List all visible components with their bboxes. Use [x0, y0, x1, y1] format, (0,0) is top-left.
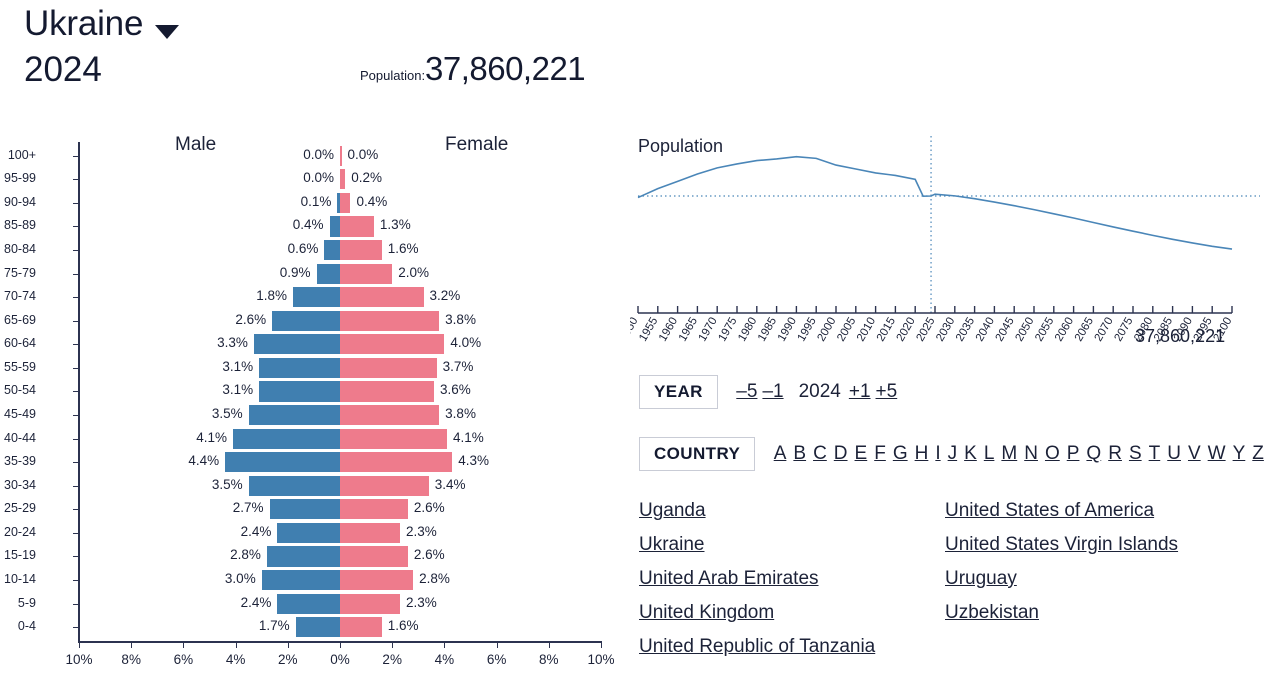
- alphabet-link-z[interactable]: Z: [1252, 443, 1264, 464]
- female-bar[interactable]: [340, 429, 447, 449]
- alphabet-link-g[interactable]: G: [893, 443, 908, 464]
- male-bar[interactable]: [259, 358, 340, 378]
- age-group-label: 10-14: [0, 572, 36, 586]
- age-group-label: 50-54: [0, 383, 36, 397]
- female-bar[interactable]: [340, 476, 429, 496]
- x-axis-tick: [497, 641, 498, 648]
- population-label: Population:: [360, 68, 425, 83]
- alphabet-link-k[interactable]: K: [964, 443, 977, 464]
- y-axis-tick: [73, 627, 79, 628]
- line-chart-x-label: 2010: [855, 316, 878, 344]
- male-bar[interactable]: [296, 617, 340, 637]
- age-group-label: 65-69: [0, 313, 36, 327]
- y-axis-tick: [73, 226, 79, 227]
- female-bar[interactable]: [340, 499, 408, 519]
- country-button[interactable]: COUNTRY: [639, 437, 755, 471]
- pyramid-row: 0-41.7%1.6%: [79, 615, 601, 639]
- country-link[interactable]: Uganda: [639, 500, 875, 522]
- x-axis-label: 8%: [539, 652, 559, 667]
- male-value-label: 0.4%: [293, 217, 324, 232]
- y-axis-tick: [73, 344, 79, 345]
- male-value-label: 1.8%: [256, 288, 287, 303]
- age-group-label: 75-79: [0, 266, 36, 280]
- line-chart-x-label: 2000: [815, 316, 838, 344]
- x-axis-tick: [183, 641, 184, 648]
- population-trend-chart: Population 37,860,221 195019551960196519…: [630, 130, 1270, 355]
- pyramid-row: 10-143.0%2.8%: [79, 568, 601, 592]
- age-group-label: 40-44: [0, 431, 36, 445]
- female-value-label: 3.7%: [443, 359, 474, 374]
- female-bar[interactable]: [340, 146, 342, 166]
- male-bar[interactable]: [277, 523, 340, 543]
- male-value-label: 4.1%: [196, 430, 227, 445]
- female-value-label: 2.6%: [414, 500, 445, 515]
- female-value-label: 2.0%: [398, 265, 429, 280]
- male-value-label: 0.9%: [280, 265, 311, 280]
- male-bar[interactable]: [272, 311, 340, 331]
- line-chart-x-label: 2075: [1112, 316, 1135, 344]
- x-axis-tick: [392, 641, 393, 648]
- country-link[interactable]: United Republic of Tanzania: [639, 636, 875, 658]
- male-value-label: 0.1%: [301, 194, 332, 209]
- pyramid-row: 75-790.9%2.0%: [79, 262, 601, 286]
- female-bar[interactable]: [340, 358, 437, 378]
- female-bar[interactable]: [340, 381, 434, 401]
- age-group-label: 5-9: [0, 596, 36, 610]
- line-chart-x-label: 2050: [1013, 316, 1036, 344]
- female-bar[interactable]: [340, 452, 452, 472]
- year-button[interactable]: YEAR: [639, 375, 718, 409]
- country-link[interactable]: Uruguay: [945, 568, 1178, 590]
- female-value-label: 0.2%: [351, 170, 382, 185]
- x-axis-tick: [601, 641, 602, 648]
- male-value-label: 3.3%: [217, 335, 248, 350]
- male-value-label: 0.0%: [303, 170, 334, 185]
- x-axis-tick: [288, 641, 289, 648]
- alphabet-link-b[interactable]: B: [793, 443, 806, 464]
- line-chart-x-label: 1975: [716, 316, 739, 344]
- y-axis-tick: [73, 604, 79, 605]
- male-value-label: 2.4%: [241, 595, 272, 610]
- y-axis-tick: [73, 462, 79, 463]
- pyramid-row: 25-292.7%2.6%: [79, 498, 601, 522]
- male-bar[interactable]: [233, 429, 340, 449]
- female-bar[interactable]: [340, 594, 400, 614]
- page-title[interactable]: Ukraine: [24, 4, 143, 44]
- male-value-label: 0.6%: [288, 241, 319, 256]
- population-line: [638, 157, 1232, 249]
- y-axis-tick: [73, 509, 79, 510]
- y-axis-tick: [73, 533, 79, 534]
- chevron-down-icon[interactable]: [155, 25, 179, 39]
- pyramid-row: 100+0.0%0.0%: [79, 144, 601, 168]
- female-bar[interactable]: [340, 523, 400, 543]
- male-bar[interactable]: [330, 216, 340, 236]
- age-group-label: 35-39: [0, 454, 36, 468]
- line-chart-x-label: 2055: [1033, 316, 1056, 344]
- year-title: 2024: [24, 50, 102, 90]
- line-chart-x-label: 2065: [1073, 316, 1096, 344]
- x-axis-tick: [444, 641, 445, 648]
- age-group-label: 0-4: [0, 619, 36, 633]
- y-axis-tick: [73, 274, 79, 275]
- x-axis-tick: [549, 641, 550, 648]
- y-axis-tick: [73, 415, 79, 416]
- alphabet-link-y[interactable]: Y: [1233, 443, 1246, 464]
- female-bar[interactable]: [340, 405, 439, 425]
- male-bar[interactable]: [259, 381, 340, 401]
- line-chart-x-label: 2030: [934, 316, 957, 344]
- pyramid-row: 45-493.5%3.8%: [79, 403, 601, 427]
- alphabet-link-t[interactable]: T: [1149, 443, 1161, 464]
- alphabet-link-p[interactable]: P: [1067, 443, 1080, 464]
- alphabet-link-l[interactable]: L: [984, 443, 995, 464]
- female-value-label: 4.1%: [453, 430, 484, 445]
- male-bar[interactable]: [262, 570, 340, 590]
- line-chart-x-label: 1990: [776, 316, 799, 344]
- female-bar[interactable]: [340, 264, 392, 284]
- pyramid-row: 35-394.4%4.3%: [79, 450, 601, 474]
- alphabet-link-a[interactable]: A: [774, 443, 787, 464]
- pyramid-plot-area: 100+0.0%0.0%95-990.0%0.2%90-940.1%0.4%85…: [79, 144, 601, 639]
- male-bar[interactable]: [317, 264, 340, 284]
- country-link[interactable]: Uzbekistan: [945, 602, 1178, 624]
- female-value-label: 3.2%: [430, 288, 461, 303]
- female-value-label: 2.6%: [414, 547, 445, 562]
- line-chart-x-label: 1970: [697, 316, 720, 344]
- pyramid-row: 60-643.3%4.0%: [79, 333, 601, 357]
- pyramid-row: 70-741.8%3.2%: [79, 285, 601, 309]
- male-bar[interactable]: [277, 594, 340, 614]
- alphabet-link-m[interactable]: M: [1001, 443, 1017, 464]
- y-axis-tick: [73, 250, 79, 251]
- male-bar[interactable]: [267, 546, 340, 566]
- alphabet-link-r[interactable]: R: [1108, 443, 1122, 464]
- pyramid-row: 65-692.6%3.8%: [79, 309, 601, 333]
- age-group-label: 55-59: [0, 360, 36, 374]
- year-plus-5-link[interactable]: +5: [876, 381, 898, 402]
- x-axis-label: 0%: [330, 652, 350, 667]
- alphabet-link-q[interactable]: Q: [1086, 443, 1101, 464]
- male-bar[interactable]: [249, 476, 340, 496]
- x-axis-label: 6%: [487, 652, 507, 667]
- y-axis-tick: [73, 179, 79, 180]
- female-bar[interactable]: [340, 193, 350, 213]
- pyramid-row: 80-840.6%1.6%: [79, 238, 601, 262]
- population-pyramid-chart: Male Female 100+0.0%0.0%95-990.0%0.2%90-…: [0, 130, 640, 693]
- x-axis-label: 2%: [382, 652, 402, 667]
- female-value-label: 3.4%: [435, 477, 466, 492]
- alphabet-link-s[interactable]: S: [1129, 443, 1142, 464]
- line-chart-x-label: 1980: [736, 316, 759, 344]
- country-control-row: COUNTRY ABCDEFGHIJKLMNOPQRSTUVWYZ: [639, 437, 1271, 471]
- y-axis-tick: [73, 486, 79, 487]
- y-axis-tick: [73, 321, 79, 322]
- age-group-label: 25-29: [0, 501, 36, 515]
- y-axis-tick: [73, 156, 79, 157]
- male-value-label: 3.0%: [225, 571, 256, 586]
- y-axis-tick: [73, 556, 79, 557]
- age-group-label: 90-94: [0, 195, 36, 209]
- x-axis-label: 6%: [174, 652, 194, 667]
- y-axis-tick: [73, 439, 79, 440]
- male-value-label: 1.7%: [259, 618, 290, 633]
- female-bar[interactable]: [340, 216, 374, 236]
- line-chart-x-label: 2035: [954, 316, 977, 344]
- line-chart-x-label: 1960: [657, 316, 680, 344]
- female-bar[interactable]: [340, 311, 439, 331]
- age-group-label: 100+: [0, 148, 36, 162]
- pyramid-row: 95-990.0%0.2%: [79, 168, 601, 192]
- page-header: Ukraine 2024 Population: 37,860,221: [0, 0, 1280, 118]
- x-axis-tick: [131, 641, 132, 648]
- age-group-label: 70-74: [0, 289, 36, 303]
- male-value-label: 3.1%: [222, 382, 253, 397]
- country-link[interactable]: United Arab Emirates: [639, 568, 875, 590]
- male-bar[interactable]: [249, 405, 340, 425]
- y-axis-tick: [73, 368, 79, 369]
- age-group-label: 45-49: [0, 407, 36, 421]
- pyramid-row: 55-593.1%3.7%: [79, 356, 601, 380]
- alphabet-link-i[interactable]: I: [935, 443, 940, 464]
- pyramid-row: 50-543.1%3.6%: [79, 380, 601, 404]
- female-value-label: 1.3%: [380, 217, 411, 232]
- country-link[interactable]: United States Virgin Islands: [945, 534, 1178, 556]
- line-chart-x-label: 1965: [677, 316, 700, 344]
- pyramid-row: 30-343.5%3.4%: [79, 474, 601, 498]
- x-axis-label: 8%: [121, 652, 141, 667]
- line-chart-x-label: 1985: [756, 316, 779, 344]
- line-chart-x-label: 2070: [1093, 316, 1116, 344]
- age-group-label: 80-84: [0, 242, 36, 256]
- line-chart-x-label: 2025: [914, 316, 937, 344]
- line-chart-x-label: 2060: [1053, 316, 1076, 344]
- female-value-label: 3.6%: [440, 382, 471, 397]
- female-value-label: 3.8%: [445, 312, 476, 327]
- x-axis-label: 4%: [226, 652, 246, 667]
- pyramid-row: 15-192.8%2.6%: [79, 545, 601, 569]
- country-list-column-1: UgandaUkraineUnited Arab EmiratesUnited …: [639, 500, 875, 670]
- alphabet-link-c[interactable]: C: [813, 443, 827, 464]
- alphabet-link-w[interactable]: W: [1208, 443, 1226, 464]
- female-value-label: 0.4%: [356, 194, 387, 209]
- year-plus-1-link[interactable]: +1: [849, 381, 871, 402]
- female-value-label: 2.8%: [419, 571, 450, 586]
- x-axis-label: 4%: [435, 652, 455, 667]
- male-bar[interactable]: [225, 452, 340, 472]
- alphabet-link-e[interactable]: E: [855, 443, 868, 464]
- female-bar[interactable]: [340, 287, 424, 307]
- y-axis-tick: [73, 391, 79, 392]
- line-chart-x-label: 2020: [895, 316, 918, 344]
- alphabet-index: ABCDEFGHIJKLMNOPQRSTUVWYZ: [774, 443, 1271, 465]
- female-value-label: 2.3%: [406, 595, 437, 610]
- male-value-label: 0.0%: [303, 147, 334, 162]
- male-value-label: 4.4%: [188, 453, 219, 468]
- age-group-label: 20-24: [0, 525, 36, 539]
- x-axis-tick: [340, 641, 341, 648]
- male-value-label: 3.5%: [212, 406, 243, 421]
- age-group-label: 30-34: [0, 478, 36, 492]
- alphabet-link-d[interactable]: D: [834, 443, 848, 464]
- male-value-label: 3.1%: [222, 359, 253, 374]
- country-link[interactable]: United States of America: [945, 500, 1178, 522]
- country-link[interactable]: Ukraine: [639, 534, 875, 556]
- male-value-label: 2.7%: [233, 500, 264, 515]
- alphabet-link-f[interactable]: F: [874, 443, 886, 464]
- male-value-label: 3.5%: [212, 477, 243, 492]
- x-axis-tick: [236, 641, 237, 648]
- x-axis-label: 10%: [65, 652, 92, 667]
- year-step-links: –5–12024+1+5: [736, 381, 902, 403]
- line-chart-x-label: 2040: [974, 316, 997, 344]
- age-group-label: 85-89: [0, 218, 36, 232]
- female-bar[interactable]: [340, 240, 382, 260]
- female-value-label: 4.3%: [458, 453, 489, 468]
- male-value-label: 2.6%: [235, 312, 266, 327]
- pyramid-row: 40-444.1%4.1%: [79, 427, 601, 451]
- year-minus-1-link[interactable]: –1: [762, 381, 783, 402]
- female-value-label: 1.6%: [388, 618, 419, 633]
- line-chart-svg: 1950195519601965197019751980198519901995…: [630, 130, 1270, 355]
- female-value-label: 0.0%: [348, 147, 379, 162]
- pyramid-row: 90-940.1%0.4%: [79, 191, 601, 215]
- alphabet-link-j[interactable]: J: [948, 443, 958, 464]
- female-value-label: 2.3%: [406, 524, 437, 539]
- female-value-label: 1.6%: [388, 241, 419, 256]
- female-bar[interactable]: [340, 169, 345, 189]
- year-current-value: 2024: [799, 381, 841, 402]
- female-value-label: 4.0%: [450, 335, 481, 350]
- line-chart-title: Population: [638, 136, 723, 157]
- female-bar[interactable]: [340, 617, 382, 637]
- country-link[interactable]: United Kingdom: [639, 602, 875, 624]
- line-chart-x-label: 1995: [796, 316, 819, 344]
- x-axis-label: 2%: [278, 652, 298, 667]
- y-axis-tick: [73, 203, 79, 204]
- line-chart-x-label: 2015: [875, 316, 898, 344]
- male-bar[interactable]: [254, 334, 340, 354]
- age-group-label: 15-19: [0, 548, 36, 562]
- male-value-label: 2.4%: [241, 524, 272, 539]
- male-bar[interactable]: [270, 499, 340, 519]
- pyramid-row: 20-242.4%2.3%: [79, 521, 601, 545]
- age-group-label: 95-99: [0, 171, 36, 185]
- alphabet-link-u[interactable]: U: [1167, 443, 1181, 464]
- year-minus-5-link[interactable]: –5: [736, 381, 757, 402]
- population-value: 37,860,221: [425, 50, 585, 88]
- male-value-label: 2.8%: [230, 547, 261, 562]
- pyramid-row: 85-890.4%1.3%: [79, 215, 601, 239]
- pyramid-row: 5-92.4%2.3%: [79, 592, 601, 616]
- female-bar[interactable]: [340, 334, 444, 354]
- year-control-row: YEAR –5–12024+1+5: [639, 375, 902, 409]
- country-list-column-2: United States of AmericaUnited States Vi…: [945, 500, 1178, 636]
- female-bar[interactable]: [340, 570, 413, 590]
- alphabet-link-n[interactable]: N: [1024, 443, 1038, 464]
- male-bar[interactable]: [324, 240, 340, 260]
- y-axis-tick: [73, 297, 79, 298]
- alphabet-link-v[interactable]: V: [1188, 443, 1201, 464]
- female-bar[interactable]: [340, 546, 408, 566]
- line-chart-x-label: 2045: [994, 316, 1017, 344]
- y-axis-tick: [73, 580, 79, 581]
- x-axis-tick: [79, 641, 80, 648]
- alphabet-link-h[interactable]: H: [915, 443, 929, 464]
- line-chart-x-label: 2005: [835, 316, 858, 344]
- male-bar[interactable]: [293, 287, 340, 307]
- age-group-label: 60-64: [0, 336, 36, 350]
- female-value-label: 3.8%: [445, 406, 476, 421]
- line-chart-x-label: 1955: [637, 316, 660, 344]
- alphabet-link-o[interactable]: O: [1045, 443, 1060, 464]
- line-chart-value-label: 37,860,221: [1135, 326, 1225, 347]
- x-axis-label: 10%: [587, 652, 614, 667]
